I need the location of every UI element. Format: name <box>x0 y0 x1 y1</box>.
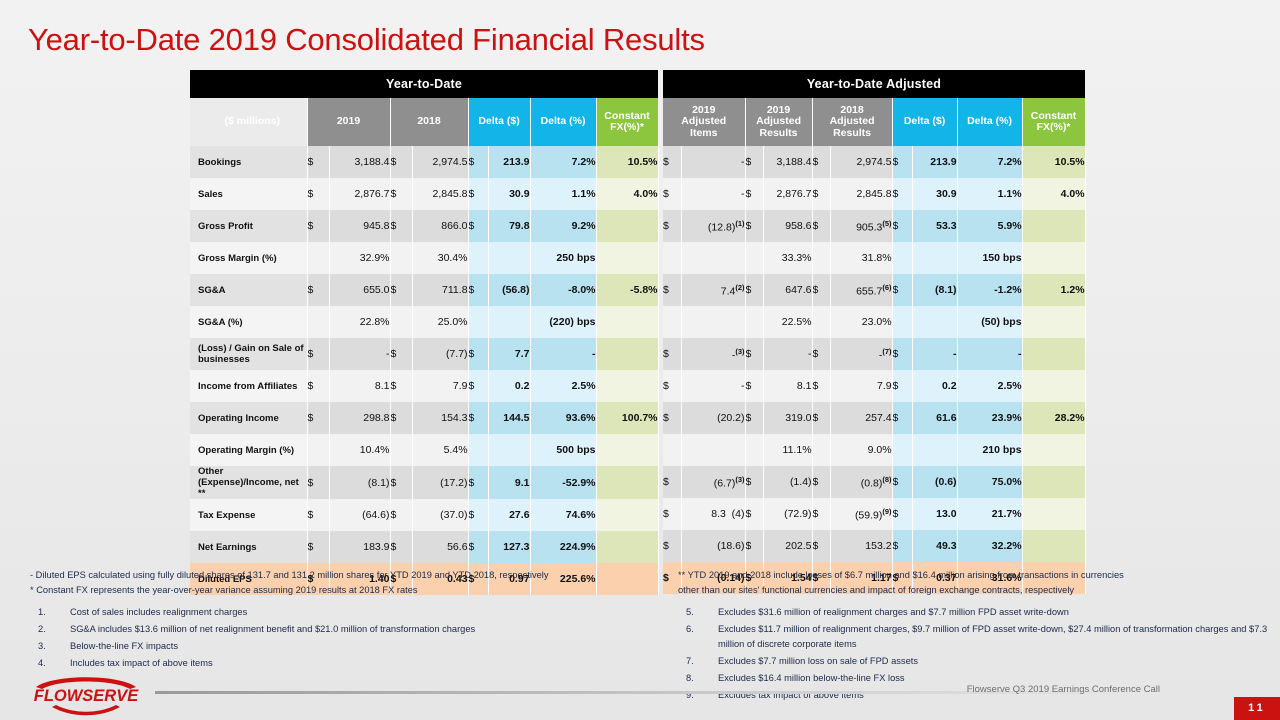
value-constant-fx: 10.5% <box>596 146 658 178</box>
currency-2019-adjusted: $ <box>745 178 763 210</box>
footnote-item: 5.Excludes $31.6 million of realignment … <box>678 605 1270 620</box>
currency-2018: $ <box>390 274 412 306</box>
currency-2018: $ <box>390 402 412 434</box>
footnote-list-left: 1.Cost of sales includes realignment cha… <box>30 605 660 671</box>
value-delta-dollar: 213.9 <box>488 146 530 178</box>
table-row: SG&A$655.0$711.8$(56.8)-8.0%-5.8% <box>190 274 658 306</box>
currency-delta: $ <box>892 402 912 434</box>
value-constant-fx <box>596 306 658 338</box>
currency-2018-adjusted <box>812 242 830 274</box>
currency-2018 <box>390 242 412 274</box>
table-row: $-$8.1$7.9$0.22.5% <box>663 370 1085 402</box>
value-delta-dollar: (56.8) <box>488 274 530 306</box>
currency-2019: $ <box>307 531 329 563</box>
footnote-text: Excludes $7.7 million loss on sale of FP… <box>718 656 918 666</box>
table-row: 11.1%9.0%210 bps <box>663 434 1085 466</box>
value-delta-dollar <box>488 434 530 466</box>
value-constant-fx <box>1022 370 1085 402</box>
currency-2018-adjusted: $ <box>812 210 830 242</box>
table-row: Operating Margin (%)10.4%5.4%500 bps <box>190 434 658 466</box>
value-2019: (64.6) <box>329 499 390 531</box>
footnote-marker: (7) <box>882 347 891 356</box>
currency-delta <box>468 434 488 466</box>
footnote-number: 4. <box>38 656 46 671</box>
footnote-marker: (3) <box>735 347 744 356</box>
value-2019-adjusted: 11.1% <box>763 434 812 466</box>
table-row: 33.3%31.8%150 bps <box>663 242 1085 274</box>
ytd-adjusted-band-header: Year-to-Date Adjusted <box>663 70 1085 98</box>
value-constant-fx <box>1022 530 1085 562</box>
ytd-col-delta-dollar: Delta ($) <box>468 98 530 146</box>
ytd-table-block: Year-to-Date ($ millions) 2019 2018 Delt… <box>190 70 658 595</box>
value-2019: 10.4% <box>329 434 390 466</box>
value-2018: 56.6 <box>412 531 468 563</box>
value-delta-dollar <box>912 306 957 338</box>
row-label: Gross Profit <box>190 210 307 242</box>
value-2019: 22.8% <box>329 306 390 338</box>
value-2018-adjusted: (0.8)(8) <box>830 466 892 498</box>
table-row: $-$3,188.4$2,974.5$213.97.2%10.5% <box>663 146 1085 178</box>
value-2018-adjusted: 655.7(6) <box>830 274 892 306</box>
currency-adjusted-items: $ <box>663 146 681 178</box>
value-delta-dollar: 30.9 <box>488 178 530 210</box>
currency-delta: $ <box>468 499 488 531</box>
value-2018-adjusted: (59.9)(9) <box>830 498 892 530</box>
value-delta-percent: 1.1% <box>957 178 1022 210</box>
currency-2018-adjusted: $ <box>812 466 830 498</box>
ytd-table-body: Bookings$3,188.4$2,974.5$213.97.2%10.5%S… <box>190 146 658 595</box>
value-constant-fx <box>1022 338 1085 370</box>
value-2019-adjusted: 3,188.4 <box>763 146 812 178</box>
value-adjusted-items: (18.6) <box>681 530 745 562</box>
currency-2019-adjusted: $ <box>745 370 763 402</box>
value-2018-adjusted: 7.9 <box>830 370 892 402</box>
footnote-constant-fx: * Constant FX represents the year-over-y… <box>30 583 660 598</box>
currency-2018-adjusted: $ <box>812 530 830 562</box>
currency-2019: $ <box>307 466 329 499</box>
currency-2018: $ <box>390 466 412 499</box>
ytd-col-delta-percent: Delta (%) <box>530 98 596 146</box>
currency-delta: $ <box>892 466 912 498</box>
currency-2019-adjusted: $ <box>745 338 763 370</box>
currency-delta: $ <box>468 466 488 499</box>
currency-adjusted-items <box>663 434 681 466</box>
currency-2018-adjusted <box>812 306 830 338</box>
currency-2018: $ <box>390 178 412 210</box>
ytd-col-2018: 2018 <box>390 98 468 146</box>
adj-col-2018-results: 2018AdjustedResults <box>812 98 892 146</box>
value-adjusted-items: - <box>681 370 745 402</box>
currency-delta: $ <box>892 210 912 242</box>
footnote-fx-losses-line1: ** YTD 2019 and 2018 include losses of $… <box>678 568 1270 583</box>
value-2019: 298.8 <box>329 402 390 434</box>
value-delta-percent: -8.0% <box>530 274 596 306</box>
footnote-marker: (8) <box>882 475 891 484</box>
currency-adjusted-items <box>663 306 681 338</box>
currency-adjusted-items <box>663 242 681 274</box>
ytd-col-2019: 2019 <box>307 98 390 146</box>
ytd-table: ($ millions) 2019 2018 Delta ($) Delta (… <box>190 98 659 595</box>
value-delta-percent: -1.2% <box>957 274 1022 306</box>
value-constant-fx <box>596 338 658 370</box>
value-2019-adjusted: 22.5% <box>763 306 812 338</box>
value-delta-dollar: 79.8 <box>488 210 530 242</box>
value-adjusted-items: (12.8)(1) <box>681 210 745 242</box>
currency-delta: $ <box>468 531 488 563</box>
currency-delta: $ <box>892 338 912 370</box>
value-constant-fx: 1.2% <box>1022 274 1085 306</box>
value-delta-dollar: 30.9 <box>912 178 957 210</box>
value-delta-dollar: 49.3 <box>912 530 957 562</box>
value-delta-percent: (50) bps <box>957 306 1022 338</box>
currency-delta: $ <box>468 338 488 370</box>
table-row: Sales$2,876.7$2,845.8$30.91.1%4.0% <box>190 178 658 210</box>
footnote-number: 3. <box>38 639 46 654</box>
value-delta-dollar <box>488 242 530 274</box>
currency-2019-adjusted <box>745 434 763 466</box>
value-delta-percent: 7.2% <box>957 146 1022 178</box>
value-constant-fx <box>596 370 658 402</box>
value-delta-percent: 21.7% <box>957 498 1022 530</box>
footnote-item: 4.Includes tax impact of above items <box>30 656 660 671</box>
value-delta-percent: 9.2% <box>530 210 596 242</box>
currency-2018: $ <box>390 531 412 563</box>
value-2019: 2,876.7 <box>329 178 390 210</box>
value-2019-adjusted: - <box>763 338 812 370</box>
value-delta-dollar <box>912 242 957 274</box>
value-constant-fx: -5.8% <box>596 274 658 306</box>
currency-2019: $ <box>307 274 329 306</box>
row-label: Tax Expense <box>190 499 307 531</box>
value-constant-fx: 28.2% <box>1022 402 1085 434</box>
value-constant-fx: 4.0% <box>1022 178 1085 210</box>
value-constant-fx <box>1022 498 1085 530</box>
table-row: Net Earnings$183.9$56.6$127.3224.9% <box>190 531 658 563</box>
value-adjusted-items <box>681 306 745 338</box>
value-delta-dollar: (0.6) <box>912 466 957 498</box>
value-2019-adjusted: 2,876.7 <box>763 178 812 210</box>
footnote-number: 7. <box>686 654 694 669</box>
flowserve-wordmark: FLOWSERVE <box>34 687 139 705</box>
currency-2019: $ <box>307 146 329 178</box>
value-delta-percent: 23.9% <box>957 402 1022 434</box>
currency-delta <box>892 306 912 338</box>
adj-col-2019-results: 2019AdjustedResults <box>745 98 812 146</box>
value-delta-percent: 32.2% <box>957 530 1022 562</box>
page-number-badge: 11 <box>1234 697 1280 720</box>
value-delta-percent: 500 bps <box>530 434 596 466</box>
ytd-adjusted-table-block: Year-to-Date Adjusted 2019AdjustedItems … <box>663 70 1085 594</box>
currency-delta: $ <box>468 146 488 178</box>
currency-2019 <box>307 242 329 274</box>
currency-2018-adjusted: $ <box>812 146 830 178</box>
row-label: Income from Affiliates <box>190 370 307 402</box>
ytd-column-header-row: ($ millions) 2019 2018 Delta ($) Delta (… <box>190 98 658 146</box>
value-2019-adjusted: 8.1 <box>763 370 812 402</box>
value-2018: 25.0% <box>412 306 468 338</box>
value-2018: 2,974.5 <box>412 146 468 178</box>
currency-delta: $ <box>892 370 912 402</box>
value-2019: 655.0 <box>329 274 390 306</box>
value-delta-percent: 2.5% <box>530 370 596 402</box>
value-constant-fx <box>1022 434 1085 466</box>
currency-2019 <box>307 434 329 466</box>
row-label: Net Earnings <box>190 531 307 563</box>
currency-adjusted-items: $ <box>663 370 681 402</box>
value-2018: 711.8 <box>412 274 468 306</box>
page-title: Year-to-Date 2019 Consolidated Financial… <box>28 22 705 58</box>
row-label: Operating Income <box>190 402 307 434</box>
table-row: $(6.7)(3)$(1.4)$(0.8)(8)$(0.6)75.0% <box>663 466 1085 498</box>
value-delta-dollar: 27.6 <box>488 499 530 531</box>
value-delta-percent: 93.6% <box>530 402 596 434</box>
currency-delta: $ <box>468 210 488 242</box>
value-2019: 32.9% <box>329 242 390 274</box>
table-row: $(20.2)$319.0$257.4$61.623.9%28.2% <box>663 402 1085 434</box>
table-row: Gross Profit$945.8$866.0$79.89.2% <box>190 210 658 242</box>
value-delta-dollar: 144.5 <box>488 402 530 434</box>
row-label: Operating Margin (%) <box>190 434 307 466</box>
table-row: Other (Expense)/Income, net **$(8.1)$(17… <box>190 466 658 499</box>
footnotes-left: - Diluted EPS calculated using fully dil… <box>30 568 660 673</box>
value-2018-adjusted: 2,845.8 <box>830 178 892 210</box>
value-adjusted-items: 7.4(2) <box>681 274 745 306</box>
currency-2019: $ <box>307 338 329 370</box>
value-2019-adjusted: (72.9) <box>763 498 812 530</box>
currency-2019-adjusted: $ <box>745 146 763 178</box>
value-adjusted-items: - <box>681 146 745 178</box>
footnote-text: Includes tax impact of above items <box>70 658 213 668</box>
value-delta-percent: 2.5% <box>957 370 1022 402</box>
value-delta-dollar: 53.3 <box>912 210 957 242</box>
footnote-marker: (2) <box>735 283 744 292</box>
footnote-text: Below-the-line FX impacts <box>70 641 178 651</box>
value-delta-dollar: (8.1) <box>912 274 957 306</box>
value-2018: 7.9 <box>412 370 468 402</box>
value-delta-dollar <box>488 306 530 338</box>
value-2019-adjusted: (1.4) <box>763 466 812 498</box>
currency-2018-adjusted <box>812 434 830 466</box>
currency-adjusted-items: $ <box>663 274 681 306</box>
value-delta-percent: 224.9% <box>530 531 596 563</box>
currency-2019-adjusted <box>745 306 763 338</box>
adj-col-constant-fx: ConstantFX(%)* <box>1022 98 1085 146</box>
footnote-text: Excludes $31.6 million of realignment ch… <box>718 607 1069 617</box>
value-delta-percent: 150 bps <box>957 242 1022 274</box>
ytd-adjusted-column-header-row: 2019AdjustedItems 2019AdjustedResults 20… <box>663 98 1085 146</box>
value-delta-dollar: 61.6 <box>912 402 957 434</box>
value-adjusted-items <box>681 434 745 466</box>
value-2018-adjusted: 2,974.5 <box>830 146 892 178</box>
currency-2018-adjusted: $ <box>812 498 830 530</box>
value-2019-adjusted: 647.6 <box>763 274 812 306</box>
row-label: Bookings <box>190 146 307 178</box>
currency-delta <box>892 242 912 274</box>
ytd-col-units: ($ millions) <box>190 98 307 146</box>
value-constant-fx <box>1022 242 1085 274</box>
value-2019: 8.1 <box>329 370 390 402</box>
currency-2018-adjusted: $ <box>812 274 830 306</box>
value-delta-percent: 74.6% <box>530 499 596 531</box>
currency-delta: $ <box>468 178 488 210</box>
footnote-text: Excludes $11.7 million of realignment ch… <box>718 624 1267 649</box>
table-row: $(12.8)(1)$958.6$905.3(5)$53.35.9% <box>663 210 1085 242</box>
currency-2019-adjusted: $ <box>745 530 763 562</box>
value-delta-percent: (220) bps <box>530 306 596 338</box>
footnote-fx-losses-line2: other than our sites' functional currenc… <box>678 583 1270 598</box>
currency-adjusted-items: $ <box>663 338 681 370</box>
value-delta-dollar: 127.3 <box>488 531 530 563</box>
value-constant-fx <box>1022 210 1085 242</box>
value-2018: (7.7) <box>412 338 468 370</box>
value-delta-percent: 250 bps <box>530 242 596 274</box>
value-constant-fx <box>596 499 658 531</box>
ytd-adjusted-table: 2019AdjustedItems 2019AdjustedResults 20… <box>663 98 1086 594</box>
value-2019-adjusted: 202.5 <box>763 530 812 562</box>
footnote-item: 7.Excludes $7.7 million loss on sale of … <box>678 654 1270 669</box>
value-delta-dollar: - <box>912 338 957 370</box>
value-2018: 2,845.8 <box>412 178 468 210</box>
footnote-text: Cost of sales includes realignment charg… <box>70 607 247 617</box>
footnote-item: 2.SG&A includes $13.6 million of net rea… <box>30 622 660 637</box>
ytd-band-header: Year-to-Date <box>190 70 658 98</box>
table-row: $8.3 (4)$(72.9)$(59.9)(9)$13.021.7% <box>663 498 1085 530</box>
value-delta-percent: 5.9% <box>957 210 1022 242</box>
currency-adjusted-items: $ <box>663 466 681 498</box>
value-constant-fx <box>1022 306 1085 338</box>
value-2018-adjusted: 31.8% <box>830 242 892 274</box>
adj-col-2019-items: 2019AdjustedItems <box>663 98 745 146</box>
adj-col-delta-percent: Delta (%) <box>957 98 1022 146</box>
value-adjusted-items: (20.2) <box>681 402 745 434</box>
currency-2018: $ <box>390 370 412 402</box>
currency-adjusted-items: $ <box>663 402 681 434</box>
value-adjusted-items: -(3) <box>681 338 745 370</box>
footnote-diluted-eps: - Diluted EPS calculated using fully dil… <box>30 568 660 583</box>
currency-adjusted-items: $ <box>663 178 681 210</box>
value-2018: (37.0) <box>412 499 468 531</box>
currency-2019-adjusted: $ <box>745 402 763 434</box>
footnote-item: 6.Excludes $11.7 million of realignment … <box>678 622 1270 652</box>
currency-2018: $ <box>390 499 412 531</box>
table-row: (Loss) / Gain on Sale of businesses$-$(7… <box>190 338 658 370</box>
value-delta-dollar: 9.1 <box>488 466 530 499</box>
currency-delta: $ <box>468 402 488 434</box>
value-2018-adjusted: -(7) <box>830 338 892 370</box>
footnote-item: 1.Cost of sales includes realignment cha… <box>30 605 660 620</box>
currency-delta: $ <box>892 498 912 530</box>
footnote-marker: (3) <box>735 475 744 484</box>
currency-delta: $ <box>892 530 912 562</box>
footnote-number: 6. <box>686 622 694 637</box>
table-row: Gross Margin (%)32.9%30.4%250 bps <box>190 242 658 274</box>
currency-2019: $ <box>307 499 329 531</box>
value-2018-adjusted: 905.3(5) <box>830 210 892 242</box>
value-constant-fx: 4.0% <box>596 178 658 210</box>
value-delta-dollar: 0.2 <box>912 370 957 402</box>
currency-2019-adjusted <box>745 242 763 274</box>
value-2018: 30.4% <box>412 242 468 274</box>
table-row: Income from Affiliates$8.1$7.9$0.22.5% <box>190 370 658 402</box>
currency-2018 <box>390 306 412 338</box>
currency-2018 <box>390 434 412 466</box>
currency-2019-adjusted: $ <box>745 466 763 498</box>
currency-adjusted-items: $ <box>663 530 681 562</box>
value-2019: (8.1) <box>329 466 390 499</box>
currency-2018-adjusted: $ <box>812 370 830 402</box>
footnote-number: 8. <box>686 671 694 686</box>
table-row: Tax Expense$(64.6)$(37.0)$27.674.6% <box>190 499 658 531</box>
table-row: $-$2,876.7$2,845.8$30.91.1%4.0% <box>663 178 1085 210</box>
value-adjusted-items: - <box>681 178 745 210</box>
row-label: Gross Margin (%) <box>190 242 307 274</box>
value-2019-adjusted: 319.0 <box>763 402 812 434</box>
value-2018: (17.2) <box>412 466 468 499</box>
value-2018: 5.4% <box>412 434 468 466</box>
currency-delta <box>468 306 488 338</box>
value-constant-fx <box>596 531 658 563</box>
footnote-text: SG&A includes $13.6 million of net reali… <box>70 624 475 634</box>
value-constant-fx <box>596 466 658 499</box>
value-delta-percent: - <box>957 338 1022 370</box>
value-2018-adjusted: 23.0% <box>830 306 892 338</box>
currency-2019 <box>307 306 329 338</box>
table-row: Bookings$3,188.4$2,974.5$213.97.2%10.5% <box>190 146 658 178</box>
value-2019: 945.8 <box>329 210 390 242</box>
table-row: $7.4(2)$647.6$655.7(6)$(8.1)-1.2%1.2% <box>663 274 1085 306</box>
currency-2018: $ <box>390 146 412 178</box>
footnote-marker: (5) <box>882 219 891 228</box>
value-2018-adjusted: 9.0% <box>830 434 892 466</box>
value-2019: 3,188.4 <box>329 146 390 178</box>
value-delta-dollar: 0.2 <box>488 370 530 402</box>
currency-2018-adjusted: $ <box>812 178 830 210</box>
row-label: Other (Expense)/Income, net ** <box>190 466 307 499</box>
row-label: SG&A (%) <box>190 306 307 338</box>
value-adjusted-items: (6.7)(3) <box>681 466 745 498</box>
value-delta-percent: 7.2% <box>530 146 596 178</box>
adj-col-delta-dollar: Delta ($) <box>892 98 957 146</box>
value-delta-percent: 210 bps <box>957 434 1022 466</box>
currency-2019: $ <box>307 178 329 210</box>
value-delta-percent: - <box>530 338 596 370</box>
footnote-number: 1. <box>38 605 46 620</box>
currency-2018: $ <box>390 338 412 370</box>
value-constant-fx <box>596 242 658 274</box>
row-label: Sales <box>190 178 307 210</box>
value-delta-percent: 1.1% <box>530 178 596 210</box>
table-row: 22.5%23.0%(50) bps <box>663 306 1085 338</box>
currency-2018-adjusted: $ <box>812 402 830 434</box>
currency-delta: $ <box>892 146 912 178</box>
currency-delta: $ <box>468 370 488 402</box>
footer-caption: Flowserve Q3 2019 Earnings Conference Ca… <box>967 684 1160 695</box>
currency-2018-adjusted: $ <box>812 338 830 370</box>
value-2019-adjusted: 958.6 <box>763 210 812 242</box>
value-2019: - <box>329 338 390 370</box>
value-2019-adjusted: 33.3% <box>763 242 812 274</box>
value-delta-dollar: 213.9 <box>912 146 957 178</box>
currency-2019: $ <box>307 370 329 402</box>
currency-2019-adjusted: $ <box>745 210 763 242</box>
currency-2019: $ <box>307 210 329 242</box>
value-constant-fx <box>596 210 658 242</box>
value-delta-percent: 75.0% <box>957 466 1022 498</box>
footnote-number: 2. <box>38 622 46 637</box>
currency-delta <box>892 434 912 466</box>
currency-2019-adjusted: $ <box>745 274 763 306</box>
footnote-marker: (1) <box>735 219 744 228</box>
